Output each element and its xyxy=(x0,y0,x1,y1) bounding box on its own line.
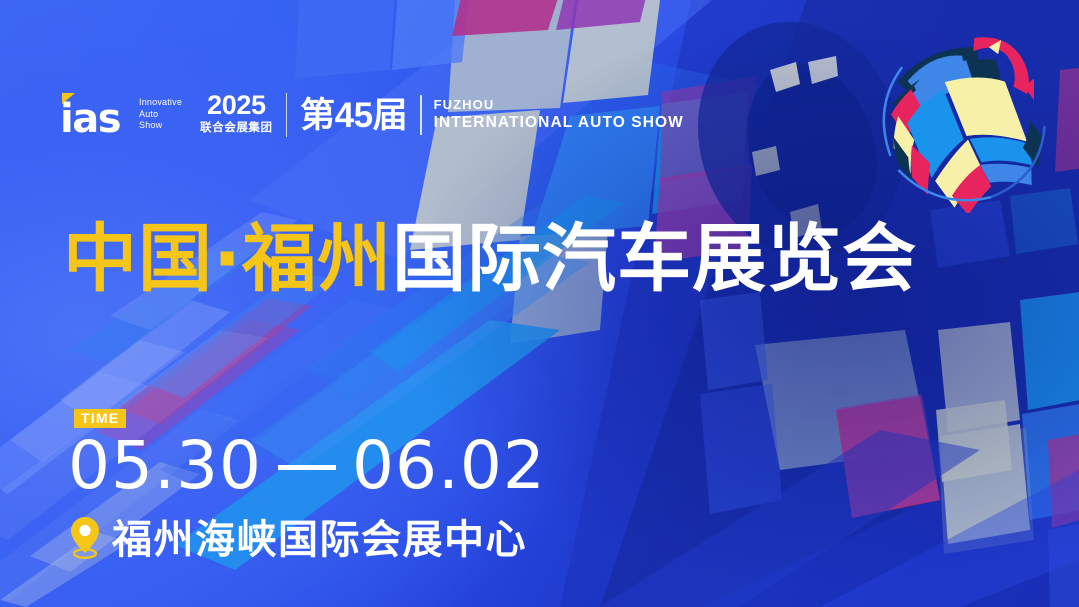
event-dates: 05.3006.02 xyxy=(68,430,546,503)
brand-logo-row: ias Innovative Auto Show 2025 联合会展集团 第45… xyxy=(60,86,684,144)
title-part-gold: 中国·福州 xyxy=(63,216,392,302)
auto-show-poster: ias Innovative Auto Show 2025 联合会展集团 第45… xyxy=(0,0,1079,607)
divider-1 xyxy=(286,93,288,137)
english-city: FUZHOU xyxy=(434,97,684,114)
ias-wordmark: ias xyxy=(60,100,120,138)
tagline-line-3: Show xyxy=(139,120,182,132)
end-date: 06.02 xyxy=(352,427,546,504)
venue-row: 福州海峡国际会展中心 xyxy=(68,515,527,564)
main-title: 中国·福州国际汽车展览会 xyxy=(63,222,917,296)
title-part-white: 国际汽车展览会 xyxy=(392,216,917,302)
venue-name: 福州海峡国际会展中心 xyxy=(112,520,527,560)
group-name: 联合会展集团 xyxy=(200,121,273,137)
start-date: 05.30 xyxy=(68,427,262,504)
flag-triangle-icon xyxy=(62,93,75,104)
date-range-dash xyxy=(278,465,336,470)
time-badge: TIME xyxy=(74,409,126,428)
year-group-block: 2025 联合会展集团 xyxy=(200,92,273,138)
map-pin-icon xyxy=(68,515,102,564)
ias-tagline: Innovative Auto Show xyxy=(139,97,182,134)
english-name-block: FUZHOU INTERNATIONAL AUTO SHOW xyxy=(434,97,684,133)
year-number: 2025 xyxy=(207,92,265,119)
ias-logo-mark: ias xyxy=(60,92,132,138)
edition-label: 第45届 xyxy=(300,98,407,133)
globe-graphic xyxy=(862,18,1052,213)
tagline-line-1: Innovative xyxy=(139,97,182,109)
english-event-name: INTERNATIONAL AUTO SHOW xyxy=(434,113,684,133)
tagline-line-2: Auto xyxy=(139,109,182,121)
divider-2 xyxy=(420,95,422,135)
